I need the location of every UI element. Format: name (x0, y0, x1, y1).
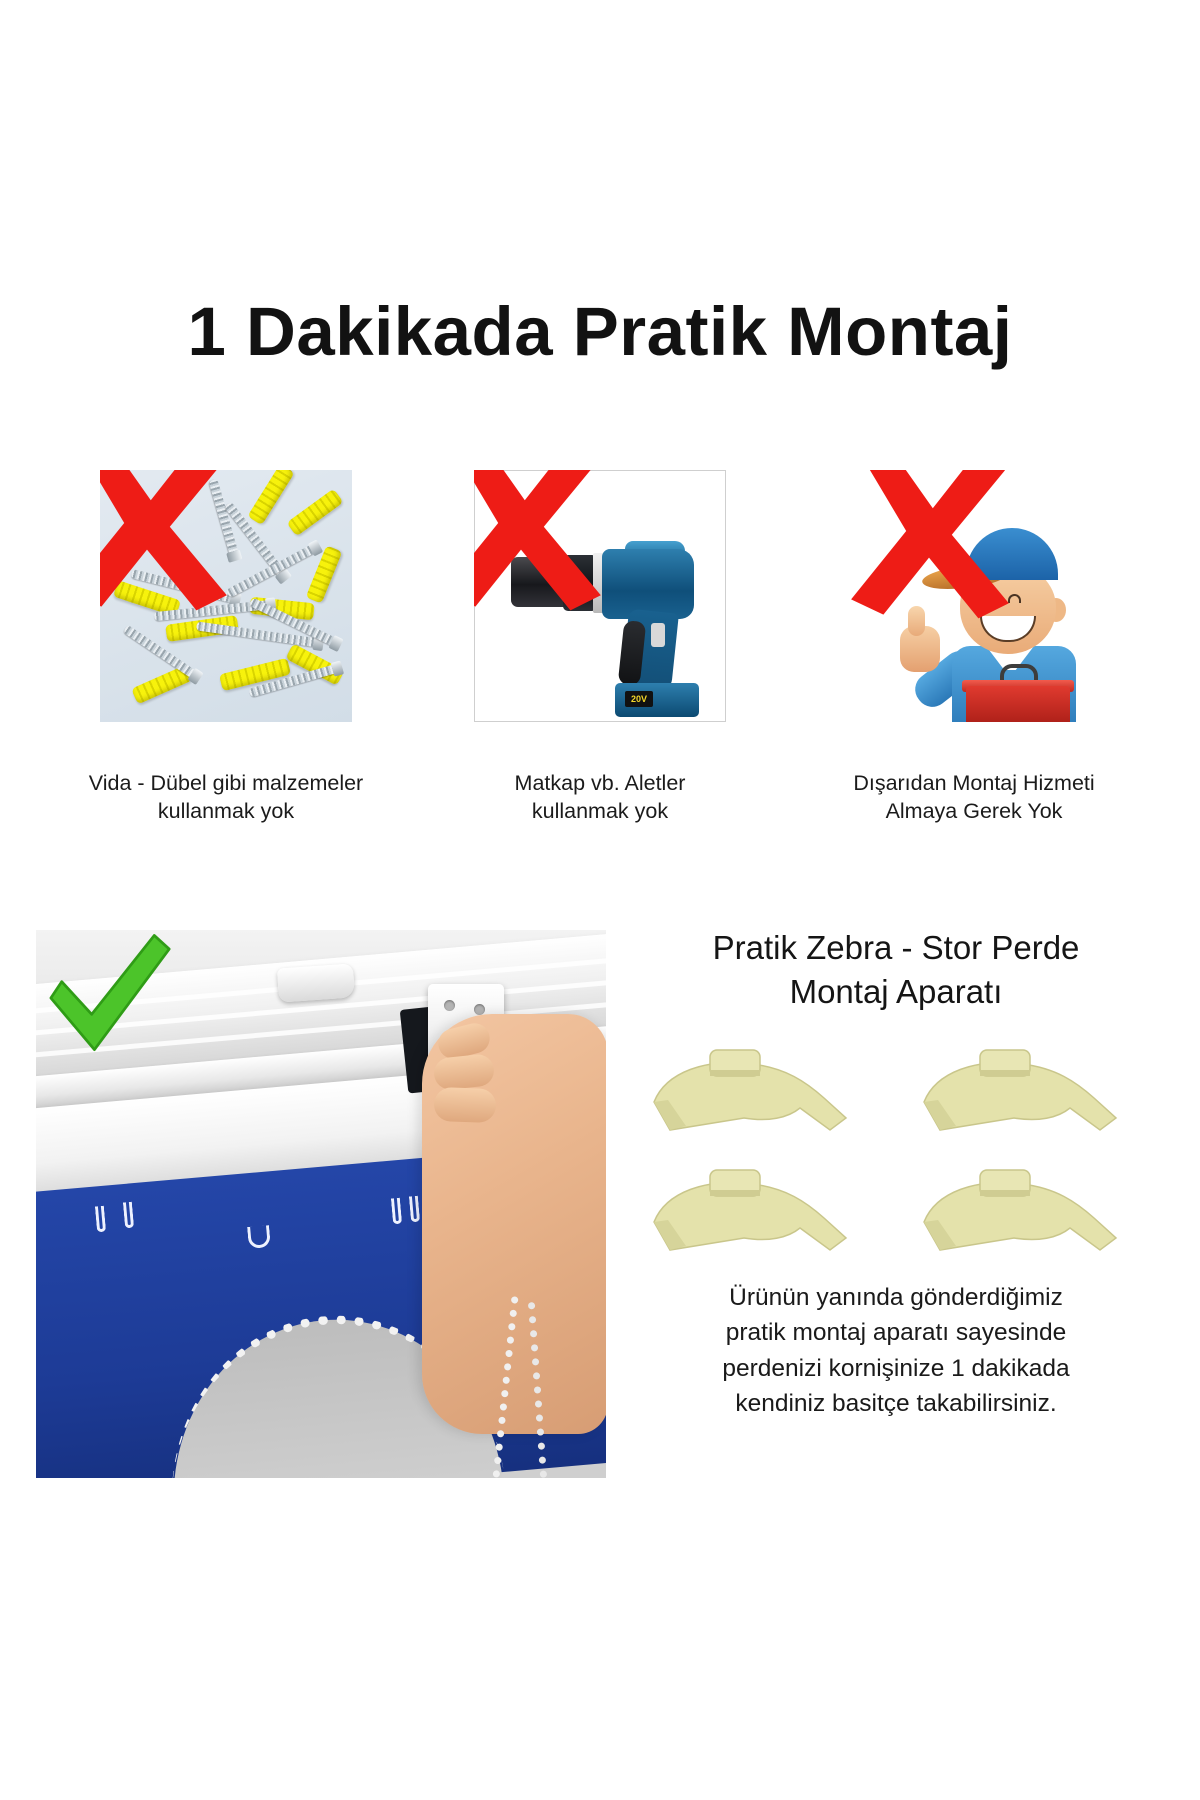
mounting-clip (642, 1036, 884, 1144)
mounting-clip-icon (648, 1166, 858, 1262)
worker-eye-right (1008, 594, 1021, 603)
no-card-drill: 20V Matkap vb. Aletler kullanmak yok (422, 470, 778, 870)
drill-trigger (651, 623, 665, 647)
screws-and-wall-plugs-photo (100, 470, 352, 722)
drill-collar (563, 555, 597, 611)
caption-line-2: Almaya Gerek Yok (796, 797, 1152, 826)
no-card-caption: Matkap vb. Aletler kullanmak yok (422, 769, 778, 826)
hand-mounting-blind-on-curtain-rail-photo (36, 930, 606, 1478)
green-check-icon (40, 930, 176, 1066)
caption-line-2: kullanmak yok (422, 797, 778, 826)
mounting-clip-icon (648, 1046, 858, 1142)
description-line-2: pratik montaj aparatı sayesinde (620, 1315, 1172, 1350)
blue-cap (966, 528, 1058, 580)
worker-thumb (908, 606, 925, 636)
cordless-drill-photo: 20V (474, 470, 726, 722)
caption-line-2: kullanmak yok (48, 797, 404, 826)
product-description: Ürünün yanında gönderdiğimiz pratik mont… (620, 1280, 1172, 1421)
drill-battery-label: 20V (625, 691, 653, 707)
product-heading-line-1: Pratik Zebra - Stor Perde (620, 926, 1172, 970)
mounting-clip (912, 1156, 1154, 1264)
finger (433, 1087, 496, 1123)
mounted-clip (277, 963, 355, 1002)
product-info-column: Pratik Zebra - Stor Perde Montaj Aparatı (620, 912, 1172, 1472)
no-needed-cards-row: Vida - Dübel gibi malzemeler kullanmak y… (48, 470, 1152, 870)
bottom-section: Pratik Zebra - Stor Perde Montaj Aparatı (0, 912, 1200, 1472)
description-line-4: kendiniz basitçe takabilirsiniz. (620, 1386, 1172, 1421)
drill-body (602, 549, 694, 619)
mounting-clips-grid (642, 1036, 1154, 1264)
bracket-hole (444, 1000, 455, 1011)
bracket-hole (474, 1004, 485, 1015)
mounting-clip-icon (918, 1166, 1128, 1262)
caption-line-1: Dışarıdan Montaj Hizmeti (796, 769, 1152, 798)
mounting-clip (642, 1156, 884, 1264)
no-card-caption: Vida - Dübel gibi malzemeler kullanmak y… (48, 769, 404, 826)
promo-page: 1 Dakikada Pratik Montaj (0, 0, 1200, 1800)
product-heading-line-2: Montaj Aparatı (620, 970, 1172, 1014)
installer-workman-illustration (848, 470, 1100, 722)
description-line-3: perdenizi kornişinize 1 dakikada (620, 1351, 1172, 1386)
no-card-screws: Vida - Dübel gibi malzemeler kullanmak y… (48, 470, 404, 870)
no-card-installer: Dışarıdan Montaj Hizmeti Almaya Gerek Yo… (796, 470, 1152, 870)
mounting-clip-icon (918, 1046, 1128, 1142)
product-heading: Pratik Zebra - Stor Perde Montaj Aparatı (620, 926, 1172, 1014)
caption-line-1: Matkap vb. Aletler (422, 769, 778, 798)
page-title: 1 Dakikada Pratik Montaj (0, 296, 1200, 368)
worker-eye-left (974, 594, 987, 603)
caption-line-1: Vida - Dübel gibi malzemeler (48, 769, 404, 798)
no-card-caption: Dışarıdan Montaj Hizmeti Almaya Gerek Yo… (796, 769, 1152, 826)
description-line-1: Ürünün yanında gönderdiğimiz (620, 1280, 1172, 1315)
red-toolbox (966, 686, 1070, 722)
mounting-clip (912, 1036, 1154, 1144)
drill-chuck (511, 557, 567, 607)
